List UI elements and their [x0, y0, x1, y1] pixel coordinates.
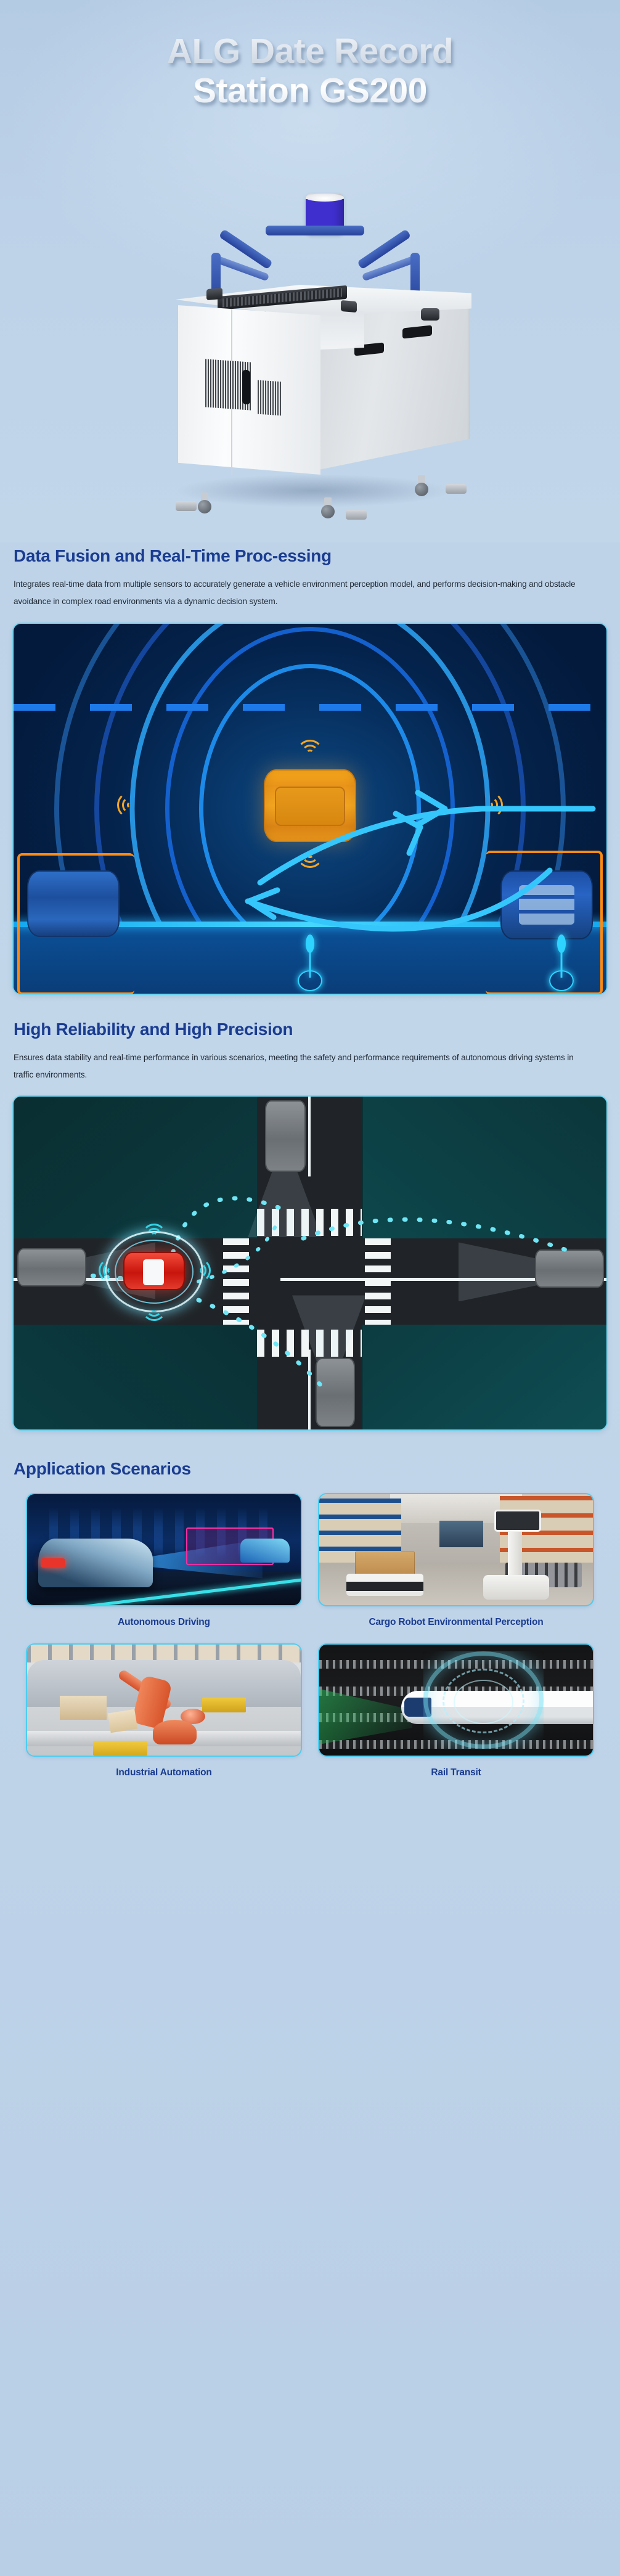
card-caption: Cargo Robot Environmental Perception	[369, 1615, 543, 1630]
leveling-foot	[176, 501, 197, 511]
traffic-sensor-icon	[547, 928, 576, 994]
section-heading-high-reliability: High Reliability and High Precision	[14, 1018, 606, 1041]
section-body-high-reliability: Ensures data stability and real-time per…	[14, 1049, 593, 1083]
section-heading-data-fusion: Data Fusion and Real-Time Proc-essing	[14, 545, 606, 567]
section-heading-applications: Application Scenarios	[14, 1458, 606, 1480]
radar-wave-icon	[99, 1258, 123, 1283]
card-image-industrial-automation	[27, 1645, 301, 1756]
caster-wheel	[414, 475, 430, 496]
card-image-rail-transit	[319, 1645, 593, 1756]
camera-icon	[341, 300, 357, 313]
leveling-foot	[446, 484, 467, 494]
section-high-reliability: High Reliability and High Precision Ensu…	[0, 1018, 620, 1430]
radar-wave-icon	[186, 1258, 211, 1283]
radar-wave-icon	[142, 1296, 166, 1321]
card-caption: Industrial Automation	[116, 1765, 211, 1780]
monitored-vehicle	[123, 1252, 185, 1290]
leveling-foot	[346, 510, 367, 520]
section-body-data-fusion: Integrates real-time data from multiple …	[14, 576, 593, 610]
page-title-line-1: ALG Date Record	[0, 32, 620, 72]
application-card-autonomous-driving[interactable]: Autonomous Driving	[27, 1494, 301, 1630]
camera-icon	[206, 288, 222, 300]
hero-section: ALG Date Record Station GS200	[0, 0, 620, 542]
caster-wheel	[320, 497, 336, 518]
product-shadow	[174, 474, 452, 507]
product-image	[0, 185, 620, 530]
application-card-industrial-automation[interactable]: Industrial Automation	[27, 1645, 301, 1780]
application-card-cargo-robot[interactable]: Cargo Robot Environmental Perception	[319, 1494, 593, 1630]
card-caption: Autonomous Driving	[118, 1615, 210, 1630]
card-caption: Rail Transit	[431, 1765, 481, 1780]
application-card-rail-transit[interactable]: Rail Transit	[319, 1645, 593, 1780]
section-data-fusion: Data Fusion and Real-Time Proc-essing In…	[0, 545, 620, 994]
caster-wheel	[197, 493, 213, 513]
card-image-autonomous-driving	[27, 1494, 301, 1605]
page-title: ALG Date Record Station GS200	[0, 0, 620, 111]
page-title-line-2: Station GS200	[0, 72, 620, 111]
door-handle	[242, 370, 250, 405]
application-card-grid: Autonomous Driving Cargo Robot Environme…	[14, 1494, 606, 1780]
figure-data-fusion	[14, 624, 606, 994]
camera-icon	[421, 308, 439, 321]
traffic-sensor-icon	[296, 928, 324, 994]
ventilation-grille	[258, 380, 282, 416]
figure-intersection	[14, 1097, 606, 1429]
section-application-scenarios: Application Scenarios Autonomous Driving…	[0, 1458, 620, 1780]
radar-wave-icon	[142, 1224, 166, 1248]
card-image-cargo-robot	[319, 1494, 593, 1605]
